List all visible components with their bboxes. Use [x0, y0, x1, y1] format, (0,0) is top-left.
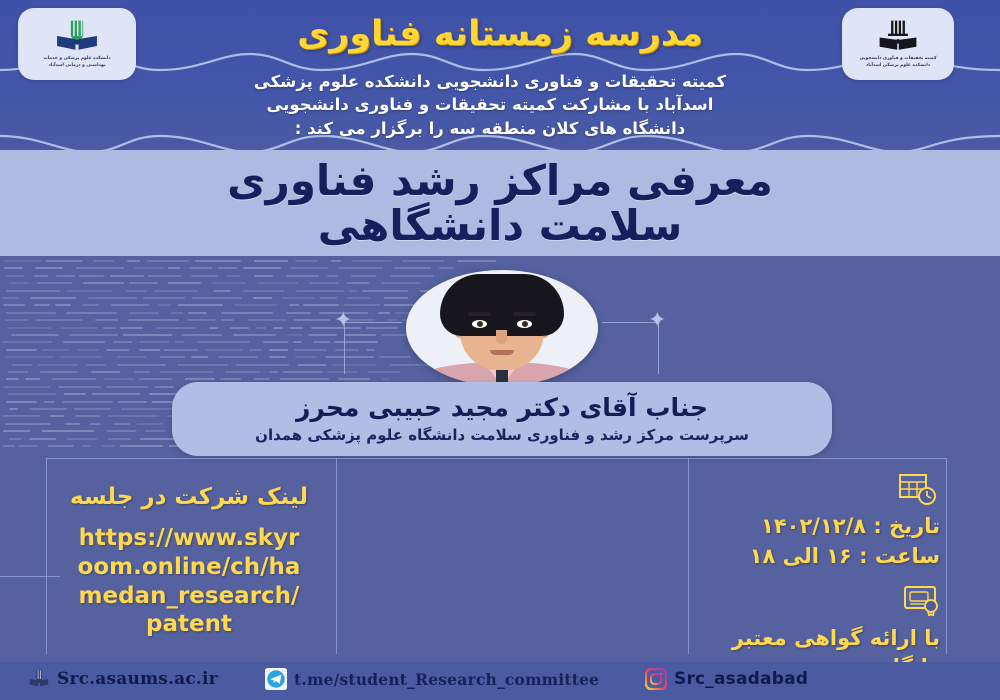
- url-line-2: oom.online/ch/ha: [54, 553, 324, 582]
- poster-bottom-section: لینک شرکت در جلسه https://www.skyr oom.o…: [0, 458, 1000, 662]
- meeting-link-section: لینک شرکت در جلسه https://www.skyr oom.o…: [54, 484, 324, 639]
- url-line-3: medan_research/: [54, 582, 324, 611]
- event-time: ساعت : ۱۶ الی ۱۸: [700, 542, 940, 572]
- instagram-icon: [645, 668, 667, 690]
- meeting-link-label: لینک شرکت در جلسه: [54, 484, 324, 510]
- poster-footer: Src.asaums.ac.ir t.me/student_Research_c…: [0, 662, 1000, 700]
- event-date: تاریخ : ۱۴۰۲/۱۲/۸: [700, 512, 940, 542]
- main-title-line-2: سلامت دانشگاهی: [318, 203, 683, 248]
- footer-website-label: Src.asaums.ac.ir: [57, 669, 218, 689]
- telegram-icon: [265, 668, 287, 690]
- divider-vertical-3: [688, 458, 689, 654]
- divider-horizontal-top: [46, 458, 946, 459]
- speaker-photo-frame: [406, 270, 598, 386]
- speaker-role: سرپرست مرکز رشد و فناوری سلامت دانشگاه ع…: [255, 426, 749, 444]
- footer-instagram-label: Src_asadabad: [674, 669, 808, 689]
- footer-item-instagram[interactable]: Src_asadabad: [645, 668, 808, 690]
- date-time-block: تاریخ : ۱۴۰۲/۱۲/۸ ساعت : ۱۶ الی ۱۸: [700, 512, 940, 572]
- url-line-4: patent: [54, 610, 324, 639]
- certificate-icon: [700, 584, 940, 620]
- logo-right-caption: کمیته تحقیقات و فناوری دانشجویی دانشکده …: [859, 56, 936, 69]
- decor-line-left-h: [344, 322, 402, 323]
- footer-item-telegram[interactable]: t.me/student_Research_committee: [265, 668, 599, 690]
- footer-item-website[interactable]: Src.asaums.ac.ir: [28, 668, 218, 690]
- research-committee-book-logo-icon: [875, 19, 921, 53]
- avatar: [406, 270, 598, 386]
- main-title-band: معرفی مراکز رشد فناوری سلامت دانشگاهی: [0, 150, 1000, 256]
- logo-left-caption: دانشکده علوم پزشکی و خدمات بهداشتی و درم…: [43, 56, 110, 69]
- calendar-clock-icon: [898, 472, 938, 510]
- website-logo-icon: [28, 668, 50, 690]
- speaker-section: ✦ ✦ جناب آقای دکتر مجید حبیبی محرز سرپرس…: [0, 256, 1000, 464]
- header-subtitle: کمیته تحقیقات و فناوری دانشجویی دانشکده …: [170, 70, 810, 140]
- sparkle-left-icon: ✦: [334, 310, 352, 332]
- speaker-card: جناب آقای دکتر مجید حبیبی محرز سرپرست مر…: [172, 382, 832, 456]
- poster-header: دانشکده علوم پزشکی و خدمات بهداشتی و درم…: [0, 0, 1000, 150]
- divider-vertical-4: [946, 458, 947, 654]
- event-poster: دانشکده علوم پزشکی و خدمات بهداشتی و درم…: [0, 0, 1000, 700]
- divider-vertical-2: [336, 458, 337, 654]
- main-title-line-1: معرفی مراکز رشد فناوری: [227, 158, 773, 203]
- sparkle-right-icon: ✦: [648, 310, 666, 332]
- divider-vertical-1: [46, 458, 47, 654]
- url-line-1: https://www.skyr: [54, 524, 324, 553]
- certificate-note: با ارائه گواهی معتبر: [700, 624, 940, 654]
- divider-horizontal-left: [0, 576, 60, 577]
- meeting-link-url[interactable]: https://www.skyr oom.online/ch/ha medan_…: [54, 524, 324, 639]
- event-info-section: تاریخ : ۱۴۰۲/۱۲/۸ ساعت : ۱۶ الی ۱۸ با ار…: [700, 472, 940, 683]
- footer-telegram-label: t.me/student_Research_committee: [294, 670, 599, 689]
- speaker-name: جناب آقای دکتر مجید حبیبی محرز: [296, 394, 708, 422]
- logo-right: کمیته تحقیقات و فناوری دانشجویی دانشکده …: [842, 8, 954, 80]
